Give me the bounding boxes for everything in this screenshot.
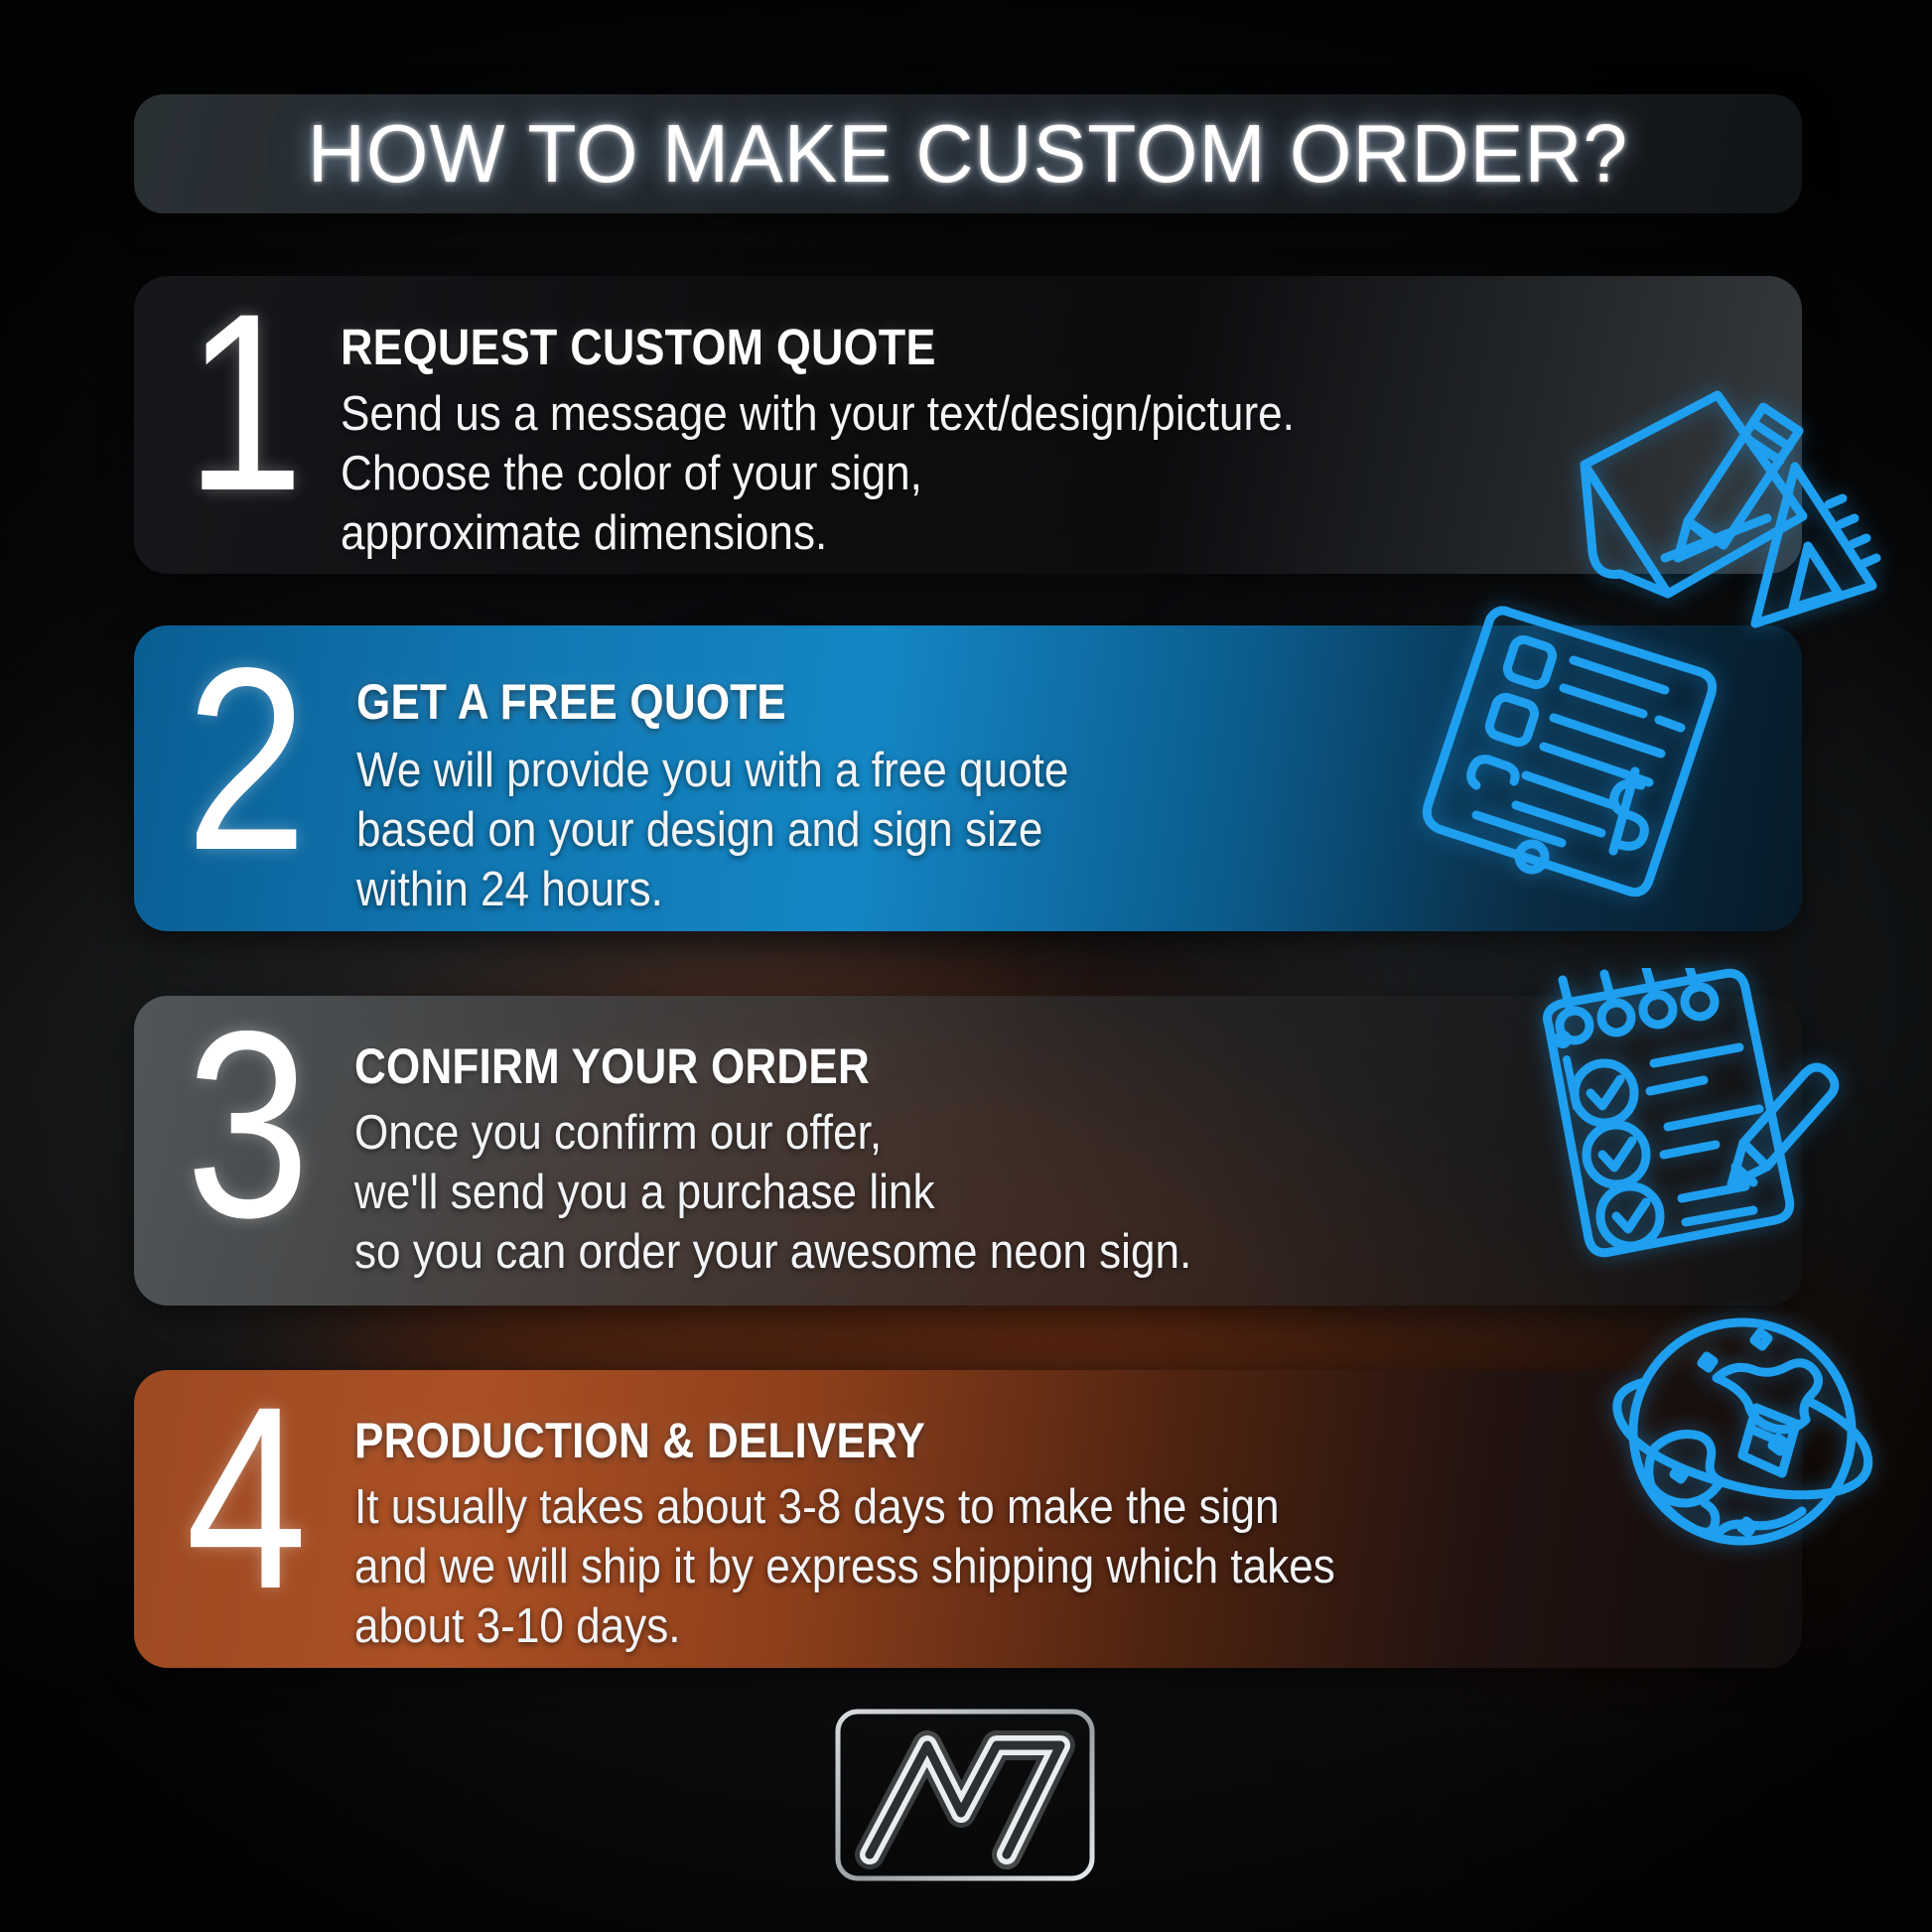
step-description-line: We will provide you with a free quote (356, 741, 1657, 800)
step-description-1: Send us a message with your text/design/… (341, 384, 1656, 563)
step-number-4: 4 (186, 1386, 311, 1609)
logo-w-mark (870, 1745, 1060, 1855)
step-description-line: within 24 hours. (356, 860, 1657, 919)
step-description-line: and we will ship it by express shipping … (354, 1537, 1657, 1596)
step-description-line: so you can order your awesome neon sign. (354, 1222, 1657, 1282)
step-title-3: CONFIRM YOUR ORDER (354, 1037, 1628, 1095)
step-card-3: 3 CONFIRM YOUR ORDER Once you confirm ou… (134, 996, 1802, 1306)
step-number-3: 3 (186, 1010, 311, 1238)
step-card-2: 2 GET A FREE QUOTE We will provide you w… (134, 625, 1802, 931)
step-title-2: GET A FREE QUOTE (356, 673, 1628, 731)
step-card-4: 4 PRODUCTION & DELIVERY It usually takes… (134, 1370, 1802, 1668)
step-number-2: 2 (186, 647, 311, 871)
step-card-1: 1 REQUEST CUSTOM QUOTE Send us a message… (134, 276, 1802, 574)
step-title-1: REQUEST CUSTOM QUOTE (341, 318, 1626, 376)
neon-w-monogram-logo (832, 1706, 1098, 1884)
step-description-line: Once you confirm our offer, (354, 1103, 1657, 1163)
header-banner: HOW TO MAKE CUSTOM ORDER? (134, 94, 1802, 213)
step-description-line: It usually takes about 3-8 days to make … (354, 1477, 1657, 1537)
step-description-line: based on your design and sign size (356, 800, 1657, 860)
step-description-4: It usually takes about 3-8 days to make … (354, 1477, 1657, 1656)
step-description-2: We will provide you with a free quote ba… (356, 741, 1657, 919)
step-description-line: Choose the color of your sign, (341, 444, 1656, 503)
step-description-line: Send us a message with your text/design/… (341, 384, 1656, 444)
step-description-line: we'll send you a purchase link (354, 1163, 1657, 1222)
step-description-line: about 3-10 days. (354, 1596, 1657, 1656)
step-number-1: 1 (186, 294, 311, 511)
step-description-3: Once you confirm our offer, we'll send y… (354, 1103, 1657, 1282)
step-title-4: PRODUCTION & DELIVERY (354, 1412, 1628, 1469)
page-title: HOW TO MAKE CUSTOM ORDER? (159, 94, 1777, 213)
step-description-line: approximate dimensions. (341, 503, 1656, 563)
